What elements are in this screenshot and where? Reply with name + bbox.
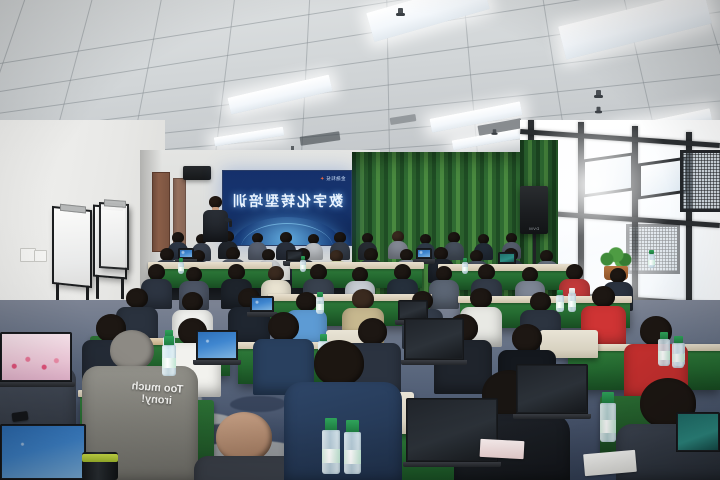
notebook[interactable]: [480, 439, 525, 459]
slide-title-text: 数字化转型培训: [223, 191, 351, 211]
microphone: [229, 221, 232, 227]
attendee-head: [216, 412, 272, 462]
attendee-head: [314, 340, 364, 386]
water-bottle[interactable]: [648, 250, 655, 268]
water-bottle[interactable]: [556, 290, 564, 312]
sprinkler-head: [596, 90, 601, 98]
laptop[interactable]: [196, 330, 238, 360]
laptop-floral-wallpaper[interactable]: [0, 332, 72, 382]
attendee-torso: [194, 456, 298, 480]
carpet-pattern: [230, 396, 286, 412]
laptop-blue-wallpaper[interactable]: [0, 424, 86, 480]
water-bottle[interactable]: [672, 336, 684, 368]
laptop[interactable]: [516, 364, 588, 414]
conference-room-photo: 数字化转型培训 金融科技 ✦ DVM: [0, 0, 720, 480]
window-insect-screen: [680, 150, 720, 212]
jacket-slogan-line2: irony!: [141, 393, 172, 407]
sprinkler-head: [398, 8, 403, 16]
attendee-torso: [284, 382, 402, 480]
slide-logo-text: 金融科技: [325, 176, 345, 181]
water-bottle[interactable]: [344, 420, 361, 474]
slide-logo: 金融科技 ✦: [320, 176, 345, 182]
thermos-tumbler[interactable]: [82, 452, 118, 480]
water-bottle[interactable]: [300, 256, 306, 272]
water-bottle[interactable]: [658, 332, 670, 366]
awning-window-pane[interactable]: [582, 152, 634, 197]
water-bottle[interactable]: [178, 258, 184, 274]
notebook[interactable]: [583, 450, 637, 476]
sprinkler-head: [493, 129, 497, 135]
presenter-torso: [203, 210, 228, 242]
water-bottle[interactable]: [600, 392, 616, 442]
laptop[interactable]: [404, 318, 464, 360]
wall-speaker-left: [183, 166, 211, 180]
sprinkler-head: [597, 107, 601, 113]
water-bottle[interactable]: [162, 336, 176, 376]
flipchart-clip: [104, 199, 126, 208]
water-bottle[interactable]: [568, 288, 576, 312]
attendee-head: [110, 330, 154, 370]
water-bottle[interactable]: [462, 258, 468, 274]
slide-logo-mark: ✦: [320, 176, 324, 181]
tumbler-band: [82, 454, 118, 461]
water-bottle[interactable]: [322, 418, 340, 474]
laptop[interactable]: [676, 412, 720, 452]
